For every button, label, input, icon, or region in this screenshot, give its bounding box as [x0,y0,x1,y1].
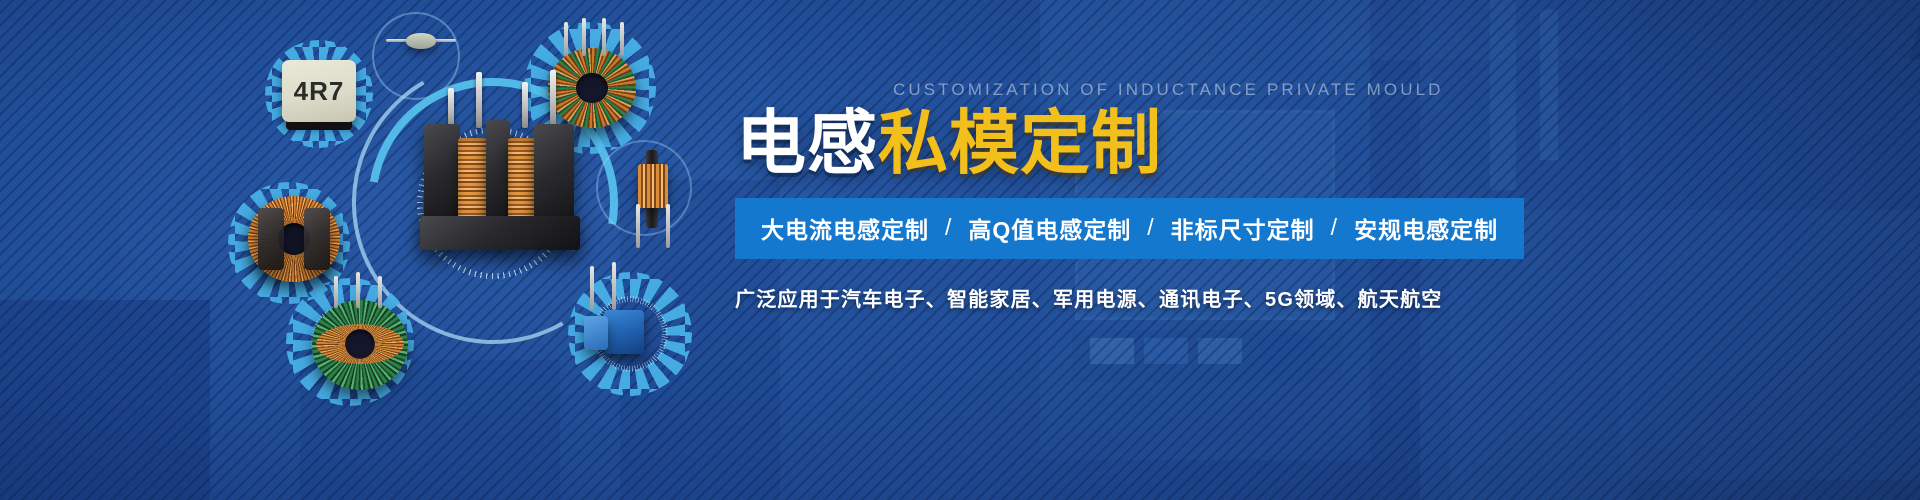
feature-item-0[interactable]: 大电流电感定制 [761,211,929,245]
banner-copy: CUSTOMIZATION OF INDUCTANCE PRIVATE MOUL… [735,80,1715,312]
product-green-toroid [312,300,408,390]
feature-bar: 大电流电感定制 / 高Q值电感定制 / 非标尺寸定制 / 安规电感定制 [735,198,1524,259]
feature-item-1[interactable]: 高Q值电感定制 [968,211,1131,245]
promo-banner: 4R7 [0,0,1920,500]
product-flat-wire-toroid [248,196,340,282]
headline-gold-part: 私模定制 [878,104,1162,182]
product-smd-inductor-4r7: 4R7 [282,60,360,134]
product-transformer-cluster [418,112,588,258]
feature-item-2[interactable]: 非标尺寸定制 [1171,211,1315,245]
feature-separator: / [929,214,968,241]
headline-white-part: 电感 [736,104,878,182]
page-title: 电感私模定制 [736,106,1715,182]
english-subtitle: CUSTOMIZATION OF INDUCTANCE PRIVATE MOUL… [893,80,1715,100]
smd-inductor-label: 4R7 [282,60,356,122]
feature-separator: / [1131,214,1170,241]
product-axial-component [386,30,456,52]
application-fields-text: 广泛应用于汽车电子、智能家居、军用电源、通讯电子、5G领域、航天航空 [735,283,1715,312]
feature-item-3[interactable]: 安规电感定制 [1354,211,1498,245]
feature-separator: / [1315,214,1354,241]
product-blue-radial-part [578,296,650,382]
product-rod-inductor [622,156,684,248]
